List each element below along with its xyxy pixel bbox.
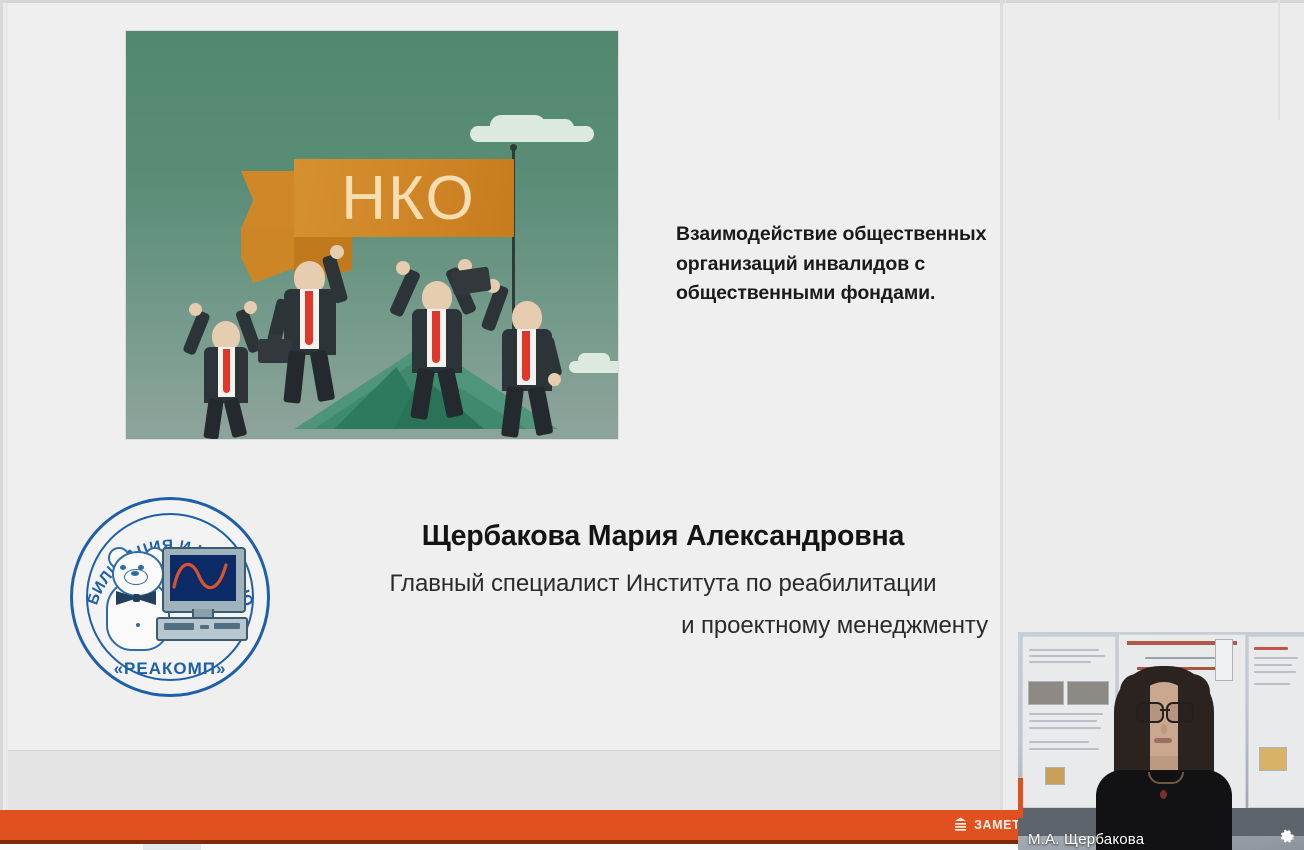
businessman-figure bbox=[272, 243, 382, 418]
slide-canvas[interactable]: НКО bbox=[8, 5, 1000, 750]
businessmen-climbing-mountain-illustration: НКО bbox=[125, 30, 619, 440]
participant-person bbox=[1114, 666, 1214, 850]
notes-lines-icon bbox=[953, 817, 968, 834]
mouth bbox=[1154, 738, 1172, 743]
taskbar-item[interactable] bbox=[143, 844, 201, 850]
sine-wave-icon bbox=[168, 553, 234, 599]
window-frame-left-inner bbox=[6, 4, 7, 834]
banner-tail bbox=[241, 171, 297, 229]
pane-divider-inner bbox=[1005, 0, 1006, 812]
flag-pole-finial bbox=[510, 144, 517, 151]
presenter-role-line-1: Главный специалист Института по реабилит… bbox=[338, 570, 988, 598]
window-frame-left bbox=[0, 0, 3, 850]
window-frame-top bbox=[0, 0, 1304, 3]
background-poster bbox=[1248, 636, 1304, 808]
businessman-figure bbox=[188, 299, 280, 439]
banner-label: НКО bbox=[306, 164, 511, 232]
pane-divider bbox=[1000, 0, 1003, 812]
window-frame-right bbox=[1278, 0, 1280, 120]
pendant bbox=[1160, 790, 1167, 799]
businessman-figure bbox=[486, 283, 596, 440]
slide-pane-footer-area bbox=[8, 750, 1000, 815]
nose bbox=[1161, 724, 1167, 734]
gear-icon[interactable] bbox=[1278, 828, 1296, 846]
logo-bottom-label: «РЕАКОМП» bbox=[70, 659, 270, 679]
orange-edge-strip bbox=[1018, 778, 1023, 818]
slide-pane[interactable]: НКО bbox=[8, 5, 1000, 810]
slide-heading: Взаимодействие общественных организаций … bbox=[676, 220, 988, 309]
participant-video-tile[interactable]: М.А. Щербакова bbox=[1018, 632, 1304, 850]
presenter-name: Щербакова Мария Александровна bbox=[338, 520, 988, 553]
computer-monitor-icon bbox=[162, 547, 246, 647]
cloud-icon bbox=[530, 119, 574, 137]
participant-name-label: М.А. Щербакова bbox=[1028, 831, 1144, 848]
presentation-app-window: НКО bbox=[0, 0, 1304, 850]
glasses-icon bbox=[1136, 702, 1194, 719]
presenter-role-line-2: и проектному менеджменту bbox=[338, 612, 988, 640]
reakomp-logo: РЕАБИЛИТАЦИЯ И КОМПЬЮТЕР bbox=[70, 497, 270, 697]
